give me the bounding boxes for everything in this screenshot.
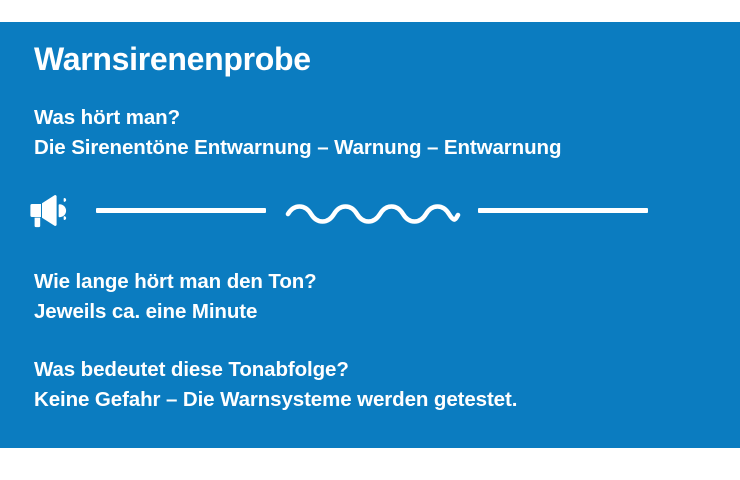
tone-steady-right-line [478,208,648,213]
question-label: Was hört man? [34,103,561,133]
tone-steady-left-line [96,208,266,213]
answer-label: Die Sirenentöne Entwarnung – Warnung – E… [34,133,561,163]
megaphone-icon [30,192,72,232]
info-block-meaning: Was bedeutet diese Tonabfolge? Keine Gef… [34,355,517,415]
info-block-hearing: Was hört man? Die Sirenentöne Entwarnung… [34,103,561,163]
tone-undulating-wave [285,198,461,224]
question-label: Was bedeutet diese Tonabfolge? [34,355,517,385]
answer-label: Jeweils ca. eine Minute [34,297,317,327]
question-label: Wie lange hört man den Ton? [34,267,317,297]
poster-root: Warnsirenenprobe Was hört man? Die Siren… [0,0,740,480]
sound-diagram [30,192,670,234]
info-block-duration: Wie lange hört man den Ton? Jeweils ca. … [34,267,317,327]
page-title: Warnsirenenprobe [34,40,311,78]
answer-label: Keine Gefahr – Die Warnsysteme werden ge… [34,385,517,415]
